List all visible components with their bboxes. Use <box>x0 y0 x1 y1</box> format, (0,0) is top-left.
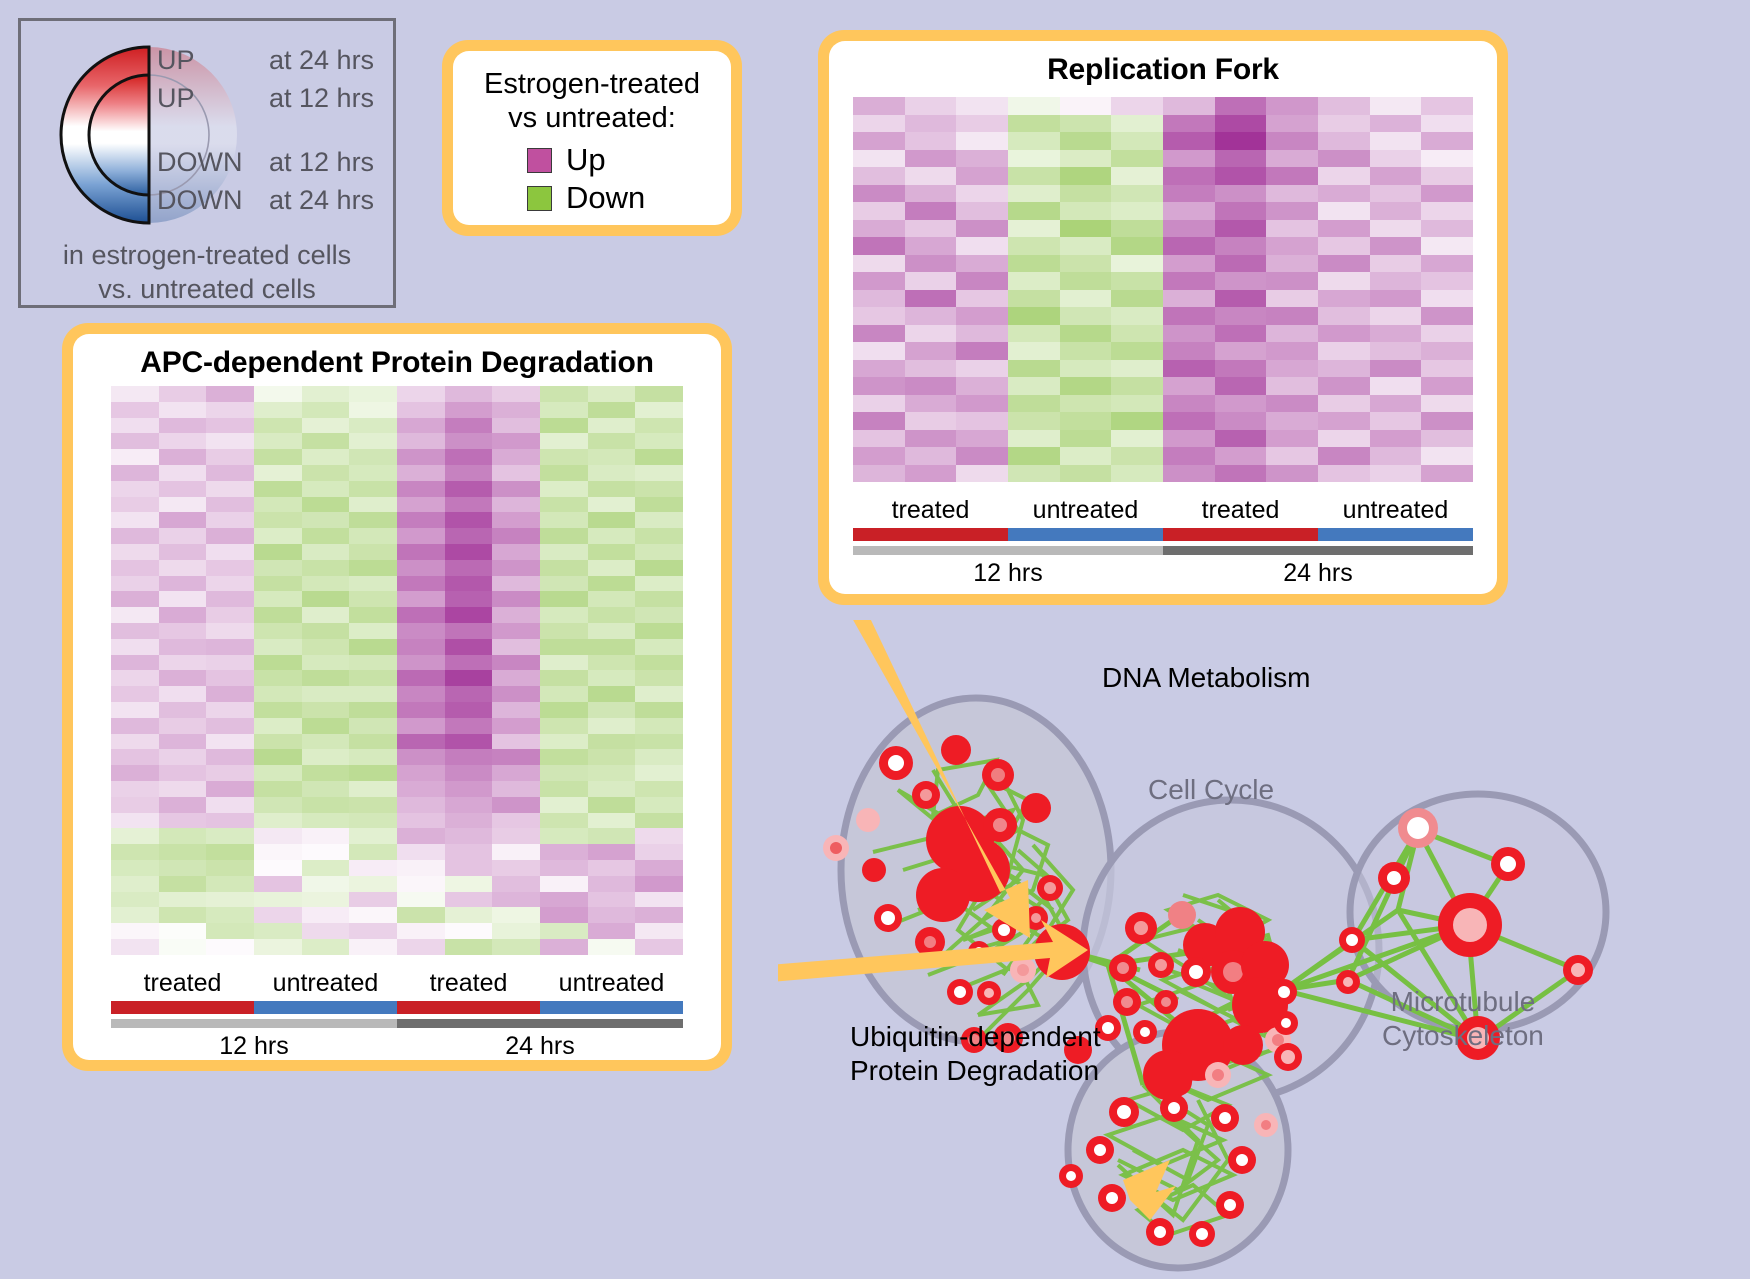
swatch-down-icon <box>527 186 552 211</box>
legend-item-up: Up <box>527 141 731 179</box>
figure-canvas: UP at 24 hrs UP at 12 hrs DOWN at 12 hrs… <box>0 0 1750 1279</box>
time-label: at 12 hrs <box>269 149 374 177</box>
page-title: APC-dependent Protein Degradation <box>73 334 721 380</box>
group-label-untreated-24: untreated <box>1318 496 1473 525</box>
legend-row-up-24: UP at 24 hrs <box>157 47 393 85</box>
ubiquitin-line2: Protein Degradation <box>850 1054 1101 1088</box>
estrogen-legend-items: Up Down <box>453 141 731 217</box>
legend-item-down: Down <box>527 179 731 217</box>
replication-time-labels: 12 hrs 24 hrs <box>853 559 1473 588</box>
bar-treated-24 <box>397 1001 540 1014</box>
legend-footer-line1: in estrogen-treated cells <box>21 239 393 273</box>
estrogen-legend-card: Estrogen-treated vs untreated: Up Down <box>442 40 742 236</box>
group-label-treated-12: treated <box>111 969 254 998</box>
bar-treated-24 <box>1163 528 1318 541</box>
page-title: Replication Fork <box>829 41 1497 87</box>
time-label-24hrs: 24 hrs <box>397 1032 683 1061</box>
bar-untreated-24 <box>1318 528 1473 541</box>
network-svg <box>778 620 1750 1279</box>
legend-item-down-label: Down <box>566 180 645 216</box>
group-label-treated-24: treated <box>1163 496 1318 525</box>
bar-time-24 <box>397 1019 683 1028</box>
microtubule-line2: Cytoskeleton <box>1382 1019 1544 1053</box>
legend-item-up-label: Up <box>566 142 606 178</box>
legend-row-up-12: UP at 12 hrs <box>157 85 393 123</box>
bar-untreated-12 <box>254 1001 397 1014</box>
time-label: at 24 hrs <box>269 187 374 215</box>
replication-group-labels: treated untreated treated untreated <box>853 496 1473 525</box>
cluster-label-microtubule-cytoskeleton: Microtubule Cytoskeleton <box>1382 985 1544 1052</box>
replication-treatment-bars <box>853 528 1473 541</box>
bar-treated-12 <box>853 528 1008 541</box>
legend-rows: UP at 24 hrs UP at 12 hrs DOWN at 12 hrs… <box>157 47 393 225</box>
replication-fork-panel: Replication Fork treated untreated treat… <box>818 30 1508 605</box>
time-label: at 12 hrs <box>269 85 374 113</box>
apc-degradation-heatmap <box>111 386 683 955</box>
replication-fork-heatmap <box>853 97 1473 482</box>
microtubule-line1: Microtubule <box>1382 985 1544 1019</box>
direction-label: UP <box>157 85 269 113</box>
legend-row-down-12: DOWN at 12 hrs <box>157 149 393 187</box>
cluster-label-dna-metabolism: DNA Metabolism <box>1102 661 1311 695</box>
bar-time-24 <box>1163 546 1473 555</box>
apc-treatment-bars <box>111 1001 683 1014</box>
bar-untreated-12 <box>1008 528 1163 541</box>
time-label-12hrs: 12 hrs <box>111 1032 397 1061</box>
gene-network-diagram: DNA Metabolism Cell Cycle Microtubule Cy… <box>778 620 1750 1279</box>
time-label-24hrs: 24 hrs <box>1163 559 1473 588</box>
expression-direction-legend: UP at 24 hrs UP at 12 hrs DOWN at 12 hrs… <box>18 18 396 308</box>
estrogen-title-line1: Estrogen-treated <box>453 67 731 101</box>
direction-label: DOWN <box>157 187 269 215</box>
apc-time-labels: 12 hrs 24 hrs <box>111 1032 683 1061</box>
group-label-untreated-12: untreated <box>254 969 397 998</box>
legend-footer-line2: vs. untreated cells <box>21 273 393 307</box>
direction-label: UP <box>157 47 269 75</box>
legend-footer: in estrogen-treated cells vs. untreated … <box>21 239 393 307</box>
bar-time-12 <box>111 1019 397 1028</box>
legend-row-down-24: DOWN at 24 hrs <box>157 187 393 225</box>
bar-time-12 <box>853 546 1163 555</box>
estrogen-title-line2: vs untreated: <box>453 101 731 135</box>
group-label-untreated-24: untreated <box>540 969 683 998</box>
apc-time-bars <box>111 1019 683 1028</box>
estrogen-legend-title: Estrogen-treated vs untreated: <box>453 67 731 135</box>
bar-untreated-24 <box>540 1001 683 1014</box>
apc-degradation-panel: APC-dependent Protein Degradation treate… <box>62 323 732 1071</box>
time-label-12hrs: 12 hrs <box>853 559 1163 588</box>
group-label-treated-12: treated <box>853 496 1008 525</box>
bar-treated-12 <box>111 1001 254 1014</box>
direction-label: DOWN <box>157 149 269 177</box>
group-label-treated-24: treated <box>397 969 540 998</box>
apc-group-labels: treated untreated treated untreated <box>111 969 683 998</box>
cluster-label-cell-cycle: Cell Cycle <box>1148 773 1274 807</box>
swatch-up-icon <box>527 148 552 173</box>
cluster-label-ubiquitin-degradation: Ubiquitin-dependent Protein Degradation <box>850 1020 1101 1087</box>
group-label-untreated-12: untreated <box>1008 496 1163 525</box>
replication-time-bars <box>853 546 1473 555</box>
time-label: at 24 hrs <box>269 47 374 75</box>
ubiquitin-line1: Ubiquitin-dependent <box>850 1020 1101 1054</box>
